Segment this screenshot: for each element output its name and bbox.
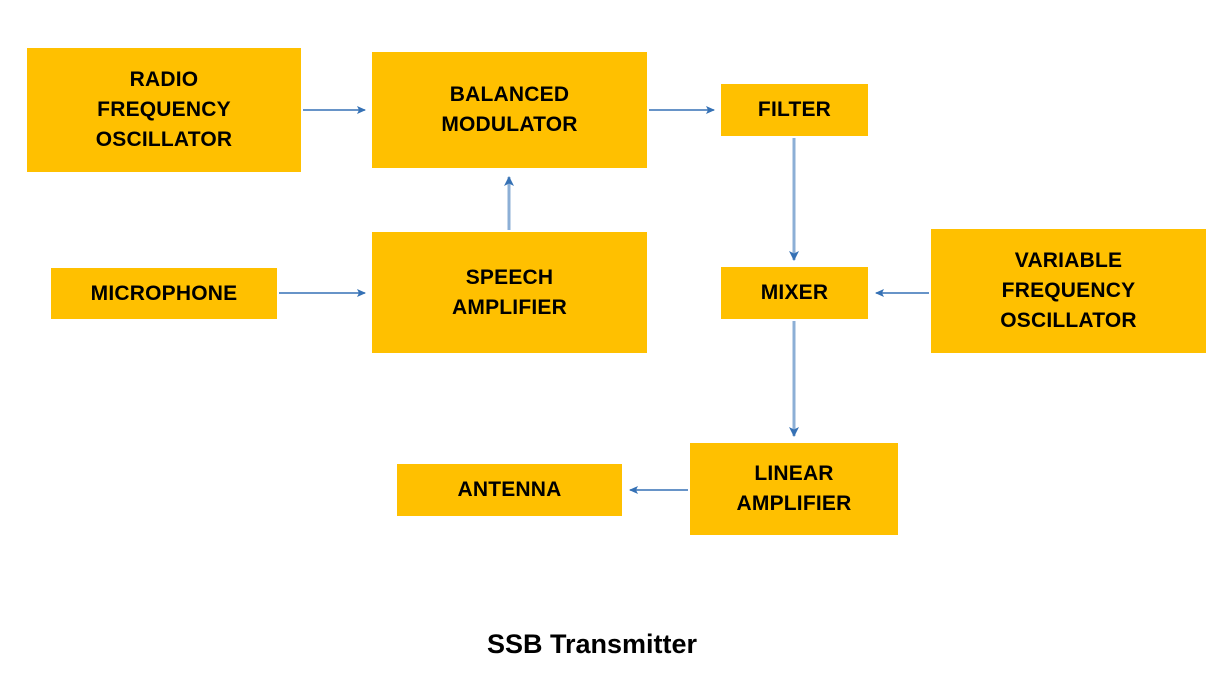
block-label: RADIO FREQUENCY OSCILLATOR — [96, 65, 233, 154]
block-label: ANTENNA — [457, 475, 561, 505]
block-filter[interactable]: FILTER — [721, 84, 868, 136]
block-variable-frequency-oscillator[interactable]: VARIABLE FREQUENCY OSCILLATOR — [931, 229, 1206, 353]
block-radio-frequency-oscillator[interactable]: RADIO FREQUENCY OSCILLATOR — [27, 48, 301, 172]
block-label: MIXER — [761, 278, 829, 308]
block-balanced-modulator[interactable]: BALANCED MODULATOR — [372, 52, 647, 168]
block-label: VARIABLE FREQUENCY OSCILLATOR — [1000, 246, 1137, 335]
diagram-canvas: RADIO FREQUENCY OSCILLATORBALANCED MODUL… — [0, 0, 1223, 683]
block-speech-amplifier[interactable]: SPEECH AMPLIFIER — [372, 232, 647, 353]
block-antenna[interactable]: ANTENNA — [397, 464, 622, 516]
block-label: SPEECH AMPLIFIER — [452, 263, 567, 323]
block-linear-amplifier[interactable]: LINEAR AMPLIFIER — [690, 443, 898, 535]
block-label: MICROPHONE — [91, 279, 238, 309]
diagram-title: SSB Transmitter — [487, 629, 697, 660]
block-label: BALANCED MODULATOR — [441, 80, 577, 140]
block-mixer[interactable]: MIXER — [721, 267, 868, 319]
block-microphone[interactable]: MICROPHONE — [51, 268, 277, 319]
block-label: LINEAR AMPLIFIER — [737, 459, 852, 519]
block-label: FILTER — [758, 95, 831, 125]
